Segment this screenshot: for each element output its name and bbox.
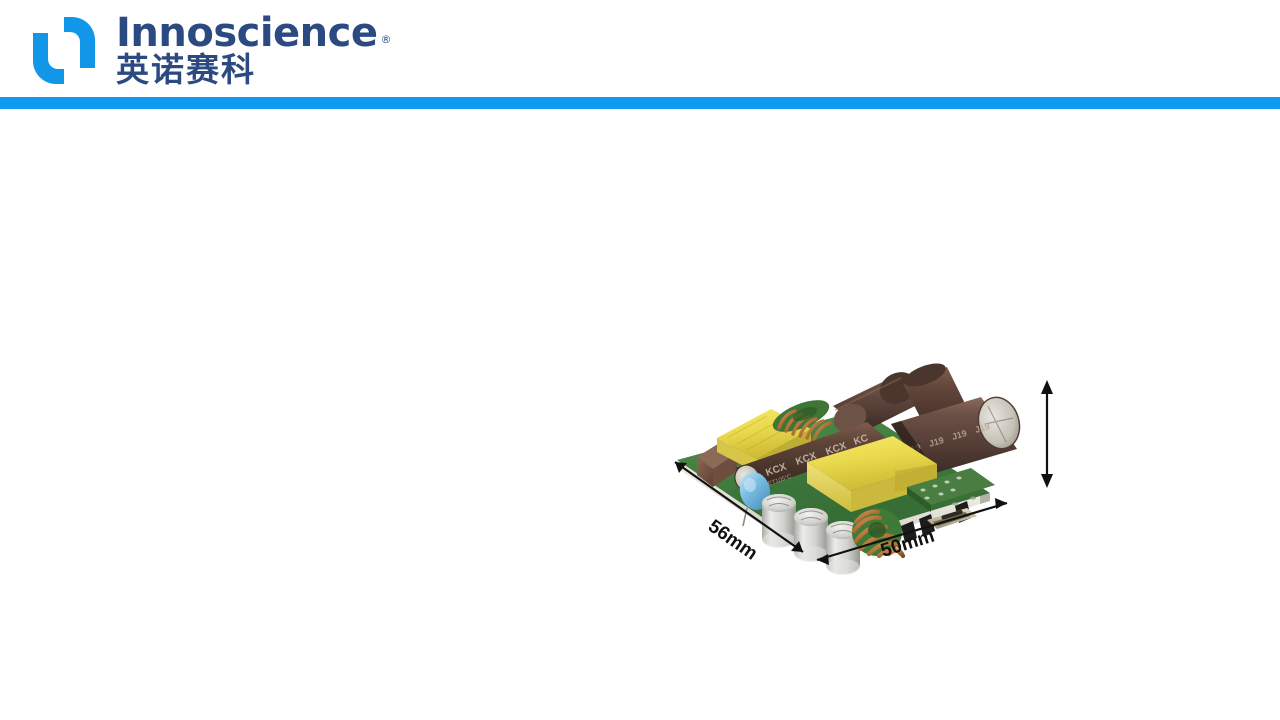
header-accent-bar <box>0 97 1280 109</box>
product-figure: J19 J19 J19 J19 KCX KCX <box>655 354 1075 604</box>
dimension-height <box>1041 380 1053 488</box>
output-electrolytic-capacitor-2 <box>794 508 828 562</box>
slide-canvas: Innoscience ® 英诺赛科 <box>0 0 1280 720</box>
wordmark-row: Innoscience ® <box>116 14 392 52</box>
dimension-56mm-label: 56mm <box>704 516 761 565</box>
innoscience-logo-mark <box>28 15 100 85</box>
registered-trademark-icon: ® <box>381 34 392 45</box>
brand-wordmark: Innoscience <box>116 14 378 52</box>
brand-logo-lockup: Innoscience ® 英诺赛科 <box>28 12 392 88</box>
slide-header: Innoscience ® 英诺赛科 <box>0 0 1280 97</box>
gan-power-supply-board-photo: J19 J19 J19 J19 KCX KCX <box>655 354 1075 604</box>
brand-text-block: Innoscience ® 英诺赛科 <box>116 12 392 88</box>
slide-body: J19 J19 J19 J19 KCX KCX <box>0 109 1280 720</box>
output-electrolytic-capacitor-1 <box>762 494 796 548</box>
brand-wordmark-chinese: 英诺赛科 <box>116 53 392 88</box>
